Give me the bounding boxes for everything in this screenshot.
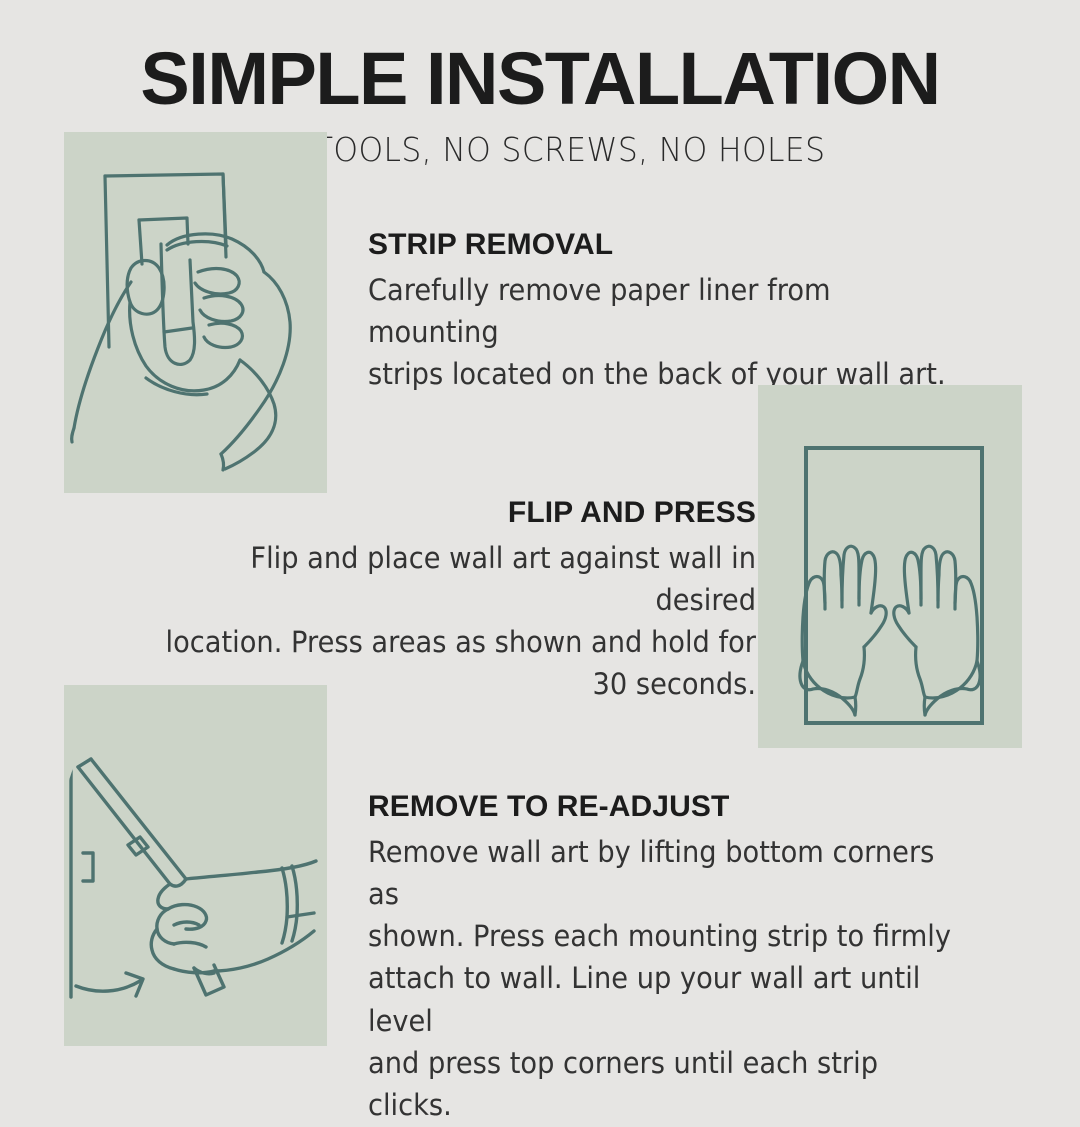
step-body-strip-removal: Carefully remove paper liner from mounti… <box>368 269 993 396</box>
step-title-flip-and-press: FLIP AND PRESS <box>108 496 756 531</box>
step-body-line: location. Press areas as shown and hold … <box>147 621 756 663</box>
two-hands-pressing-frame-icon <box>758 385 1022 748</box>
step-title-strip-removal: STRIP REMOVAL <box>368 228 993 263</box>
step-remove-to-re-adjust: REMOVE TO RE-ADJUST Remove wall art by l… <box>368 790 1008 1127</box>
step-body-line: Flip and place wall art against wall in … <box>147 537 756 622</box>
step-strip-removal: STRIP REMOVAL Carefully remove paper lin… <box>368 228 993 395</box>
page-title: SIMPLE INSTALLATION <box>0 0 1080 116</box>
hand-peeling-strip-icon <box>64 132 327 493</box>
step-flip-and-press: FLIP AND PRESS Flip and place wall art a… <box>108 496 756 706</box>
step-body-line: attach to wall. Line up your wall art un… <box>368 957 970 1042</box>
step-body-line: shown. Press each mounting strip to firm… <box>368 915 970 957</box>
illustration-panel-flip-and-press <box>758 385 1022 748</box>
step-body-flip-and-press: Flip and place wall art against wall in … <box>108 537 756 706</box>
step-body-line: Remove wall art by lifting bottom corner… <box>368 831 970 916</box>
hand-lifting-frame-arrow-icon <box>64 685 327 1046</box>
step-body-line: Carefully remove paper liner from mounti… <box>368 269 956 354</box>
step-body-line: and press top corners until each strip c… <box>368 1042 970 1127</box>
step-title-remove-to-re-adjust: REMOVE TO RE-ADJUST <box>368 790 1008 825</box>
step-body-remove-to-re-adjust: Remove wall art by lifting bottom corner… <box>368 831 1008 1127</box>
installation-infographic: SIMPLE INSTALLATION NO TOOLS, NO SCREWS,… <box>0 0 1080 1080</box>
illustration-panel-strip-removal <box>64 132 327 493</box>
illustration-panel-remove-to-re-adjust <box>64 685 327 1046</box>
